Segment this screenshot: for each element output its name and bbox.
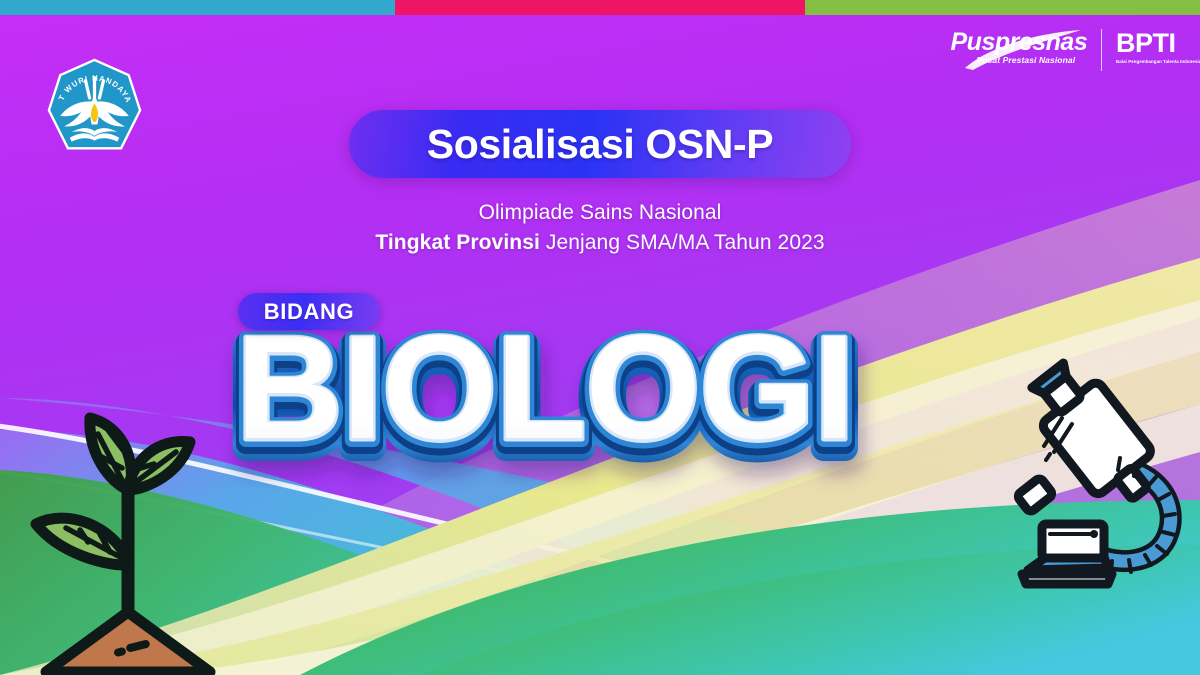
field-name-wordmark: BIOLOGI BIOLOGI BIOLOGI BIOLOGI BIOLOGI [230, 320, 990, 490]
tut-wuri-handayani-logo-icon: TUT WURI HANDAYANI [47, 58, 142, 163]
puspresnas-tagline: Pusat Prestasi Nasional [977, 55, 1076, 65]
top-color-bar [0, 0, 1200, 15]
poster-canvas: TUT WURI HANDAYANI Puspre [0, 0, 1200, 675]
bpti-logo-icon: BPTI Balai Pengembangan Talenta Indonesi… [1116, 28, 1178, 72]
page-title: Sosialisasi OSN-P [427, 121, 773, 168]
subtitle-level: Tingkat Provinsi [375, 231, 540, 254]
field-badge-label: BIDANG [264, 299, 354, 325]
subtitle-level-detail: Jenjang SMA/MA Tahun 2023 [540, 231, 825, 254]
topbar-segment-green [805, 0, 1200, 15]
plant-sprout-icon [18, 390, 248, 675]
subtitle-line-1: Olimpiade Sains Nasional [0, 198, 1200, 228]
microscope-icon [1000, 358, 1195, 593]
partner-logos: Puspresnas Pusat Prestasi Nasional BPTI … [951, 28, 1179, 72]
topbar-segment-cyan [0, 0, 395, 15]
field-badge: BIDANG [238, 293, 380, 330]
logo-divider [1101, 29, 1103, 71]
bpti-tagline: Balai Pengembangan Talenta Indonesia [1116, 59, 1175, 64]
bpti-wordmark: BPTI [1116, 30, 1176, 57]
puspresnas-wordmark: Puspresnas [951, 30, 1088, 55]
puspresnas-logo-icon: Puspresnas Pusat Prestasi Nasional [951, 28, 1087, 72]
page-title-pill: Sosialisasi OSN-P [349, 110, 851, 178]
topbar-segment-pink [395, 0, 805, 15]
subtitle-line-2: Tingkat Provinsi Jenjang SMA/MA Tahun 20… [0, 228, 1200, 258]
subtitle-block: Olimpiade Sains Nasional Tingkat Provins… [0, 198, 1200, 259]
